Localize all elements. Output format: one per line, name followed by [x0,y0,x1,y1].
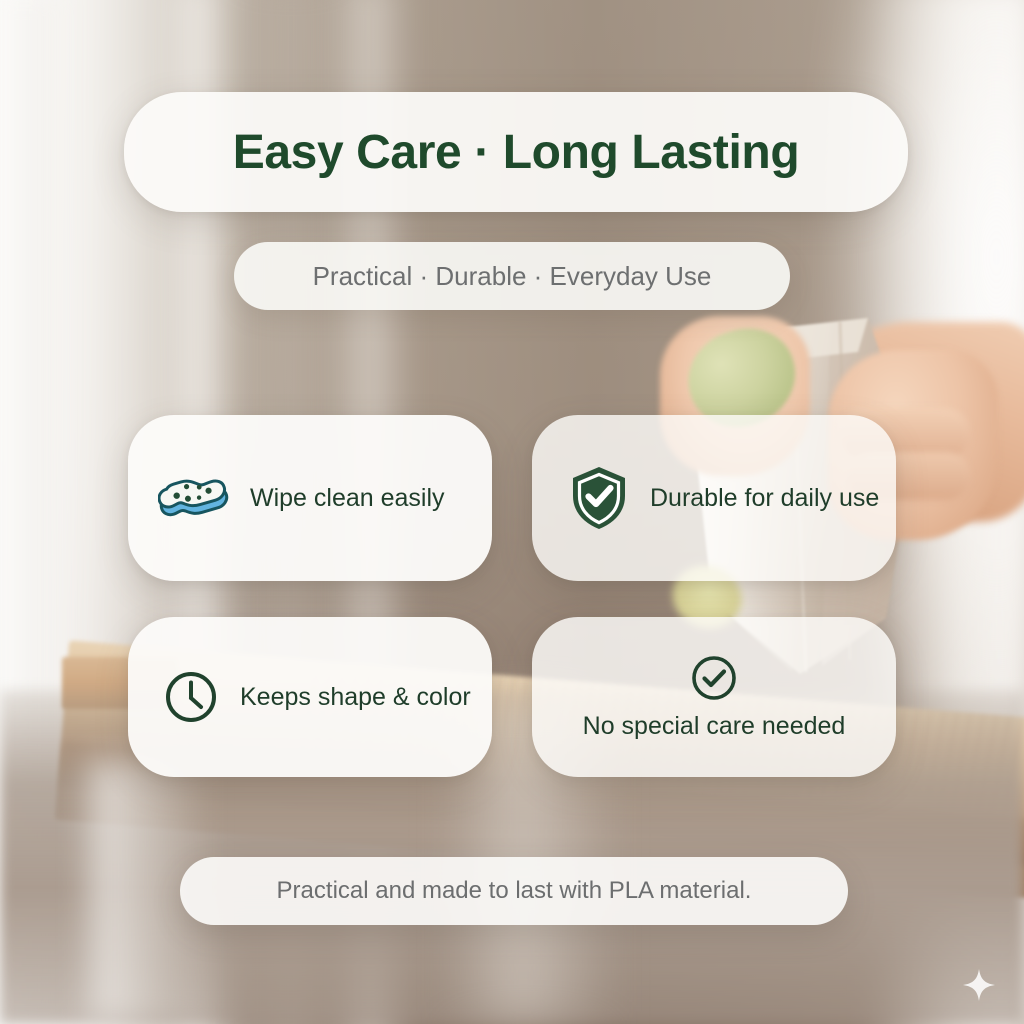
feature-card-wipe-clean[interactable]: Wipe clean easily [128,415,492,581]
feature-label: Keeps shape & color [240,683,471,712]
feature-card-keeps-shape[interactable]: Keeps shape & color [128,617,492,777]
subtitle-pill: Practical · Durable · Everyday Use [234,242,790,310]
sponge-icon [158,470,230,526]
page-title: Easy Care · Long Lasting [233,125,800,180]
feature-label: No special care needed [583,712,846,741]
title-pill: Easy Care · Long Lasting [124,92,908,212]
footer-pill: Practical and made to last with PLA mate… [180,857,848,925]
footer-caption: Practical and made to last with PLA mate… [277,877,752,905]
feature-label: Wipe clean easily [250,484,445,513]
clock-icon [164,670,218,724]
feature-label: Durable for daily use [650,484,879,513]
sparkle-icon [962,968,996,1002]
page-subtitle: Practical · Durable · Everyday Use [313,261,712,292]
feature-card-no-special-care[interactable]: No special care needed [532,617,896,777]
feature-card-durable[interactable]: Durable for daily use [532,415,896,581]
check-circle-icon [690,654,738,702]
shield-check-icon [570,465,628,531]
